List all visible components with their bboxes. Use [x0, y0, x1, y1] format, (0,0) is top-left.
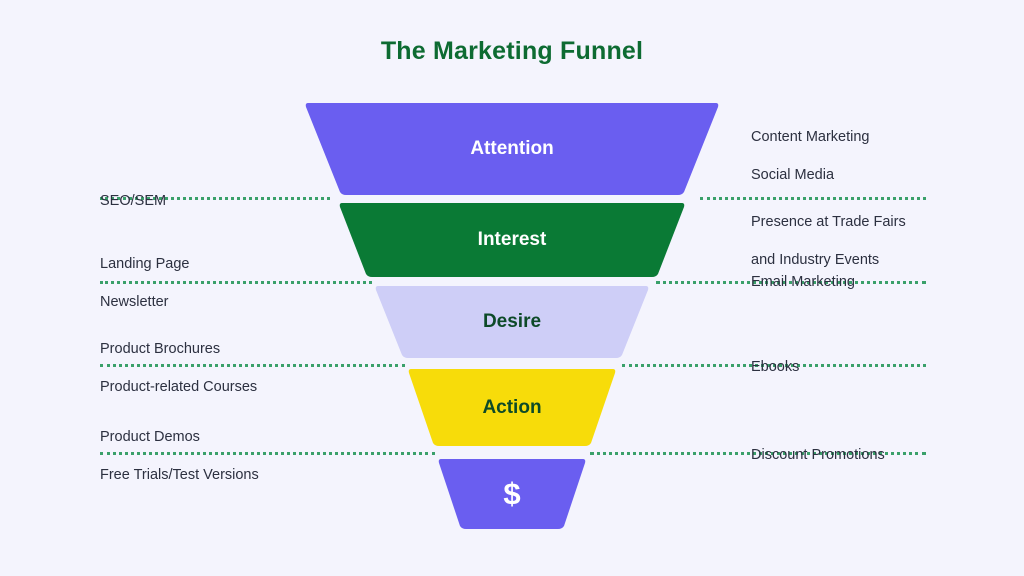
- funnel-stage-revenue[interactable]: $: [435, 456, 589, 532]
- right-annotation-content-marketing-line2: Social Media: [751, 167, 834, 183]
- left-annotation-landing-page-line1: Landing Page: [100, 256, 190, 272]
- action-segment-icon: [405, 366, 619, 449]
- interest-segment-icon: [336, 200, 688, 280]
- right-annotation-trade-fairs-line1: Presence at Trade Fairs: [751, 214, 906, 230]
- attention-segment-icon: [300, 100, 724, 198]
- left-annotation-product-brochures-line1: Product Brochures: [100, 341, 220, 357]
- annotation-spacer: [751, 185, 906, 194]
- right-annotation-content-marketing: Content Marketing Social Media Presence …: [751, 109, 906, 270]
- left-annotation-product-brochures-line2: Product-related Courses: [100, 379, 257, 395]
- desire-segment-icon: [372, 283, 652, 361]
- right-annotation-email-marketing: Email Marketing: [751, 254, 855, 292]
- left-annotation-product-demos: Product Demos Free Trials/Test Versions: [100, 409, 259, 485]
- right-annotation-content-marketing-line1: Content Marketing: [751, 129, 869, 145]
- left-annotation-seo-sem-line1: SEO/SEM: [100, 193, 166, 209]
- funnel-stage-interest[interactable]: Interest: [336, 200, 688, 280]
- dollar-sign-icon: $: [503, 476, 520, 512]
- left-annotation-seo-sem: SEO/SEM: [100, 173, 166, 211]
- left-annotation-landing-page: Landing Page Newsletter: [100, 236, 190, 312]
- right-annotation-ebooks-line1: Ebooks: [751, 359, 799, 375]
- funnel-stage-desire[interactable]: Desire: [372, 283, 652, 361]
- funnel-stage-attention[interactable]: Attention: [300, 100, 724, 198]
- funnel-diagram-canvas: The Marketing Funnel Attention Interest: [0, 0, 1024, 576]
- left-annotation-product-brochures: Product Brochures Product-related Course…: [100, 321, 257, 397]
- right-annotation-email-marketing-line1: Email Marketing: [751, 274, 855, 290]
- right-annotation-discount-promotions: Discount Promotions: [751, 427, 885, 465]
- left-annotation-product-demos-line1: Product Demos: [100, 429, 200, 445]
- left-annotation-product-demos-line2: Free Trials/Test Versions: [100, 467, 259, 483]
- right-annotation-discount-promotions-line1: Discount Promotions: [751, 447, 885, 463]
- funnel-stage-action[interactable]: Action: [405, 366, 619, 449]
- right-annotation-ebooks: Ebooks: [751, 339, 799, 377]
- left-annotation-landing-page-line2: Newsletter: [100, 294, 169, 310]
